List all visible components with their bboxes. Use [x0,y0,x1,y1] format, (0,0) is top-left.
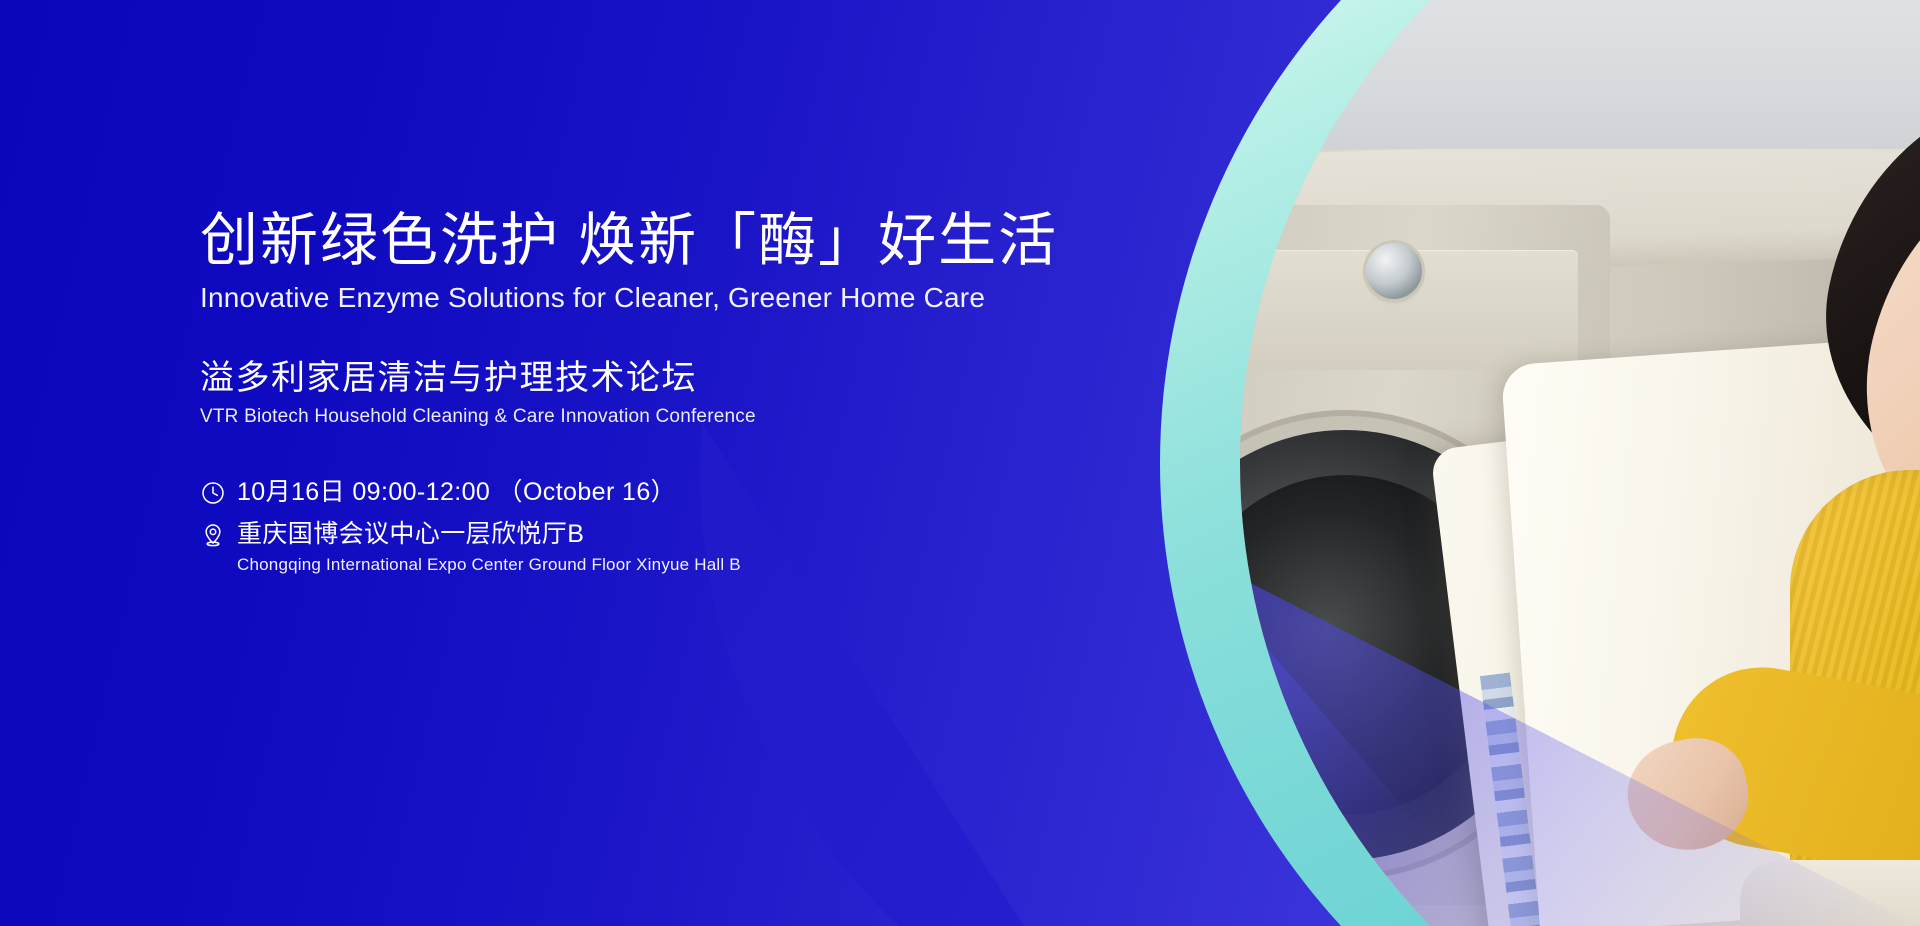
event-time-text: 10月16日 09:00-12:00 （October 16） [237,477,676,508]
event-venue-text-group: 重庆国博会议中心一层欣悦厅B Chongqing International E… [237,519,741,576]
event-venue-english: Chongqing International Expo Center Grou… [237,553,741,577]
location-pin-icon [200,522,226,548]
headline-english: Innovative Enzyme Solutions for Cleaner,… [200,281,1080,315]
subheadline-chinese: 溢多利家居清洁与护理技术论坛 [200,358,1080,399]
event-venue-row: 重庆国博会议中心一层欣悦厅B Chongqing International E… [200,519,1080,576]
washer-dial [1366,243,1422,299]
subheadline-english: VTR Biotech Household Cleaning & Care In… [200,406,1080,429]
banner-content: 创新绿色洗护 焕新「酶」好生活 Innovative Enzyme Soluti… [200,210,1080,589]
headline-chinese: 创新绿色洗护 焕新「酶」好生活 [200,210,1080,273]
conference-banner: 创新绿色洗护 焕新「酶」好生活 Innovative Enzyme Soluti… [0,0,1920,926]
clock-icon [200,480,226,506]
event-venue-chinese: 重庆国博会议中心一层欣悦厅B [237,520,584,548]
event-details: 10月16日 09:00-12:00 （October 16） 重庆国博会议中心… [200,477,1080,577]
event-time-row: 10月16日 09:00-12:00 （October 16） [200,477,1080,508]
